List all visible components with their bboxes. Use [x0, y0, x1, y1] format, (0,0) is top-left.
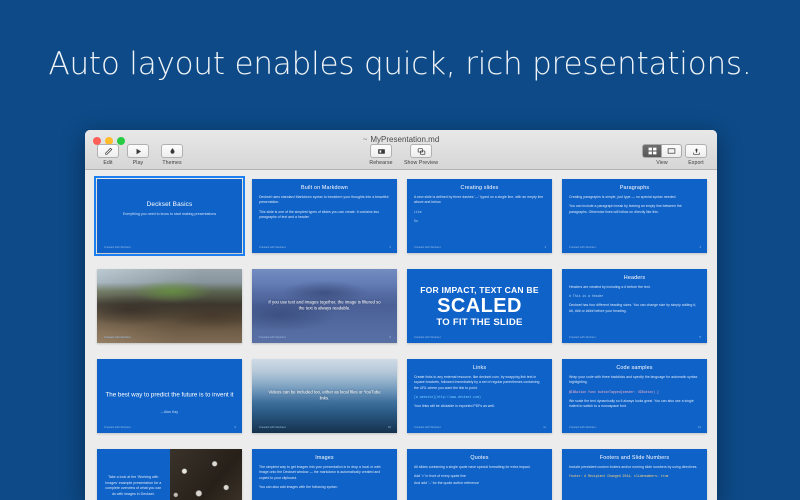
slide-footer: Created with Deckset	[414, 426, 441, 429]
scaled-line-3: TO FIT THE SLIDE	[436, 317, 522, 328]
page-headline: Auto layout enables quick, rich presenta…	[0, 46, 800, 82]
slide-paragraph: Deckset has four different heading sizes…	[569, 303, 700, 314]
toolbar-show-preview-label: Show Preview	[404, 160, 438, 166]
slide-cell[interactable]: Videos can be included too, either as lo…	[252, 359, 397, 433]
slide-cell[interactable]: FOR IMPACT, TEXT CAN BE SCALED TO FIT TH…	[407, 269, 552, 343]
slide-thumbnail-7[interactable]: FOR IMPACT, TEXT CAN BE SCALED TO FIT TH…	[407, 269, 552, 343]
slide-thumbnail-14[interactable]: Images The simplest way to get images in…	[252, 449, 397, 500]
slide-paragraph: Wrap your code with three backticks and …	[569, 375, 700, 386]
slide-cell[interactable]: Images The simplest way to get images in…	[252, 449, 397, 500]
slide-title: Deckset Basics	[104, 201, 235, 208]
toolbar-center-group: Rehearse Show Preview	[85, 144, 717, 166]
view-segmented-control[interactable]	[642, 144, 682, 158]
slide-cell[interactable]: Footers and Slide Numbers Include persis…	[562, 449, 707, 500]
slide-cell[interactable]: Deckset Basics Everything you need to kn…	[97, 179, 242, 253]
slide-quote-attribution: – Alan Kay	[97, 410, 242, 414]
deckset-app-window: ~MyPresentation.md Edit Play Themes	[85, 130, 717, 500]
window-titlebar: ~MyPresentation.md Edit Play Themes	[85, 130, 717, 170]
slide-thumbnail-15[interactable]: Quotes All slides containing a single qu…	[407, 449, 552, 500]
preview-icon	[410, 144, 432, 158]
slide-cell[interactable]: Code samples Wrap your code with three b…	[562, 359, 707, 433]
toolbar-export-button[interactable]: Export	[683, 144, 709, 166]
view-single-icon[interactable]	[662, 144, 682, 158]
slide-paragraph: Creating paragraphs is simple, just type…	[569, 195, 700, 200]
slide-thumbnail-2[interactable]: Built on Markdown Deckset uses standard …	[252, 179, 397, 253]
slide-paragraph: Headers are created by including a # bef…	[569, 285, 700, 290]
toolbar-view-switch[interactable]: View	[645, 144, 679, 166]
slide-overlay-text: Videos can be included too, either as lo…	[265, 390, 384, 403]
slide-number: 2	[390, 246, 391, 249]
slide-paragraph: You can include a paragraph break by lea…	[569, 204, 700, 215]
slide-footer: Created with Deckset	[104, 336, 131, 339]
slide-overlay-text: If you use text and images together, the…	[265, 300, 384, 313]
slide-cell[interactable]: If you use text and images together, the…	[252, 269, 397, 343]
slide-paragraph: Your links will be clickable in exported…	[414, 404, 545, 409]
slide-paragraph: And add '--' for the quote author refere…	[414, 481, 545, 486]
slide-thumbnail-9[interactable]: The best way to predict the future is to…	[97, 359, 242, 433]
slide-code: @IBAction func buttonTapped(sender: UIBu…	[569, 390, 700, 395]
toolbar-rehearse-label: Rehearse	[369, 160, 392, 166]
slide-paragraph: Take a look at the 'Working with Images'…	[103, 475, 164, 497]
slide-footer: Created with Deckset	[259, 336, 286, 339]
slide-number: 4	[700, 246, 701, 249]
slide-paragraph: We scale the text dynamically so it alwa…	[569, 399, 700, 410]
slide-cell[interactable]: Created with Deckset	[97, 269, 242, 343]
split-text-half: Take a look at the 'Working with Images'…	[97, 449, 170, 500]
view-grid-icon[interactable]	[642, 144, 662, 158]
slide-title: Paragraphs	[569, 185, 700, 191]
slide-code: [a website](http://www.deckset.com)	[414, 395, 545, 400]
slide-footer: Created with Deckset	[569, 246, 596, 249]
slide-title: Headers	[569, 275, 700, 281]
slide-paragraph: This slide is one of the simplest types …	[259, 210, 390, 221]
slide-footer: Created with Deckset	[104, 246, 131, 249]
flowers-photo	[170, 449, 243, 500]
slide-cell[interactable]: Built on Markdown Deckset uses standard …	[252, 179, 397, 253]
slide-number: 12	[698, 426, 701, 429]
toolbar-view-label: View	[656, 160, 668, 166]
scaled-line-1: FOR IMPACT, TEXT CAN BE	[420, 285, 539, 295]
slide-thumbnail-1[interactable]: Deckset Basics Everything you need to kn…	[97, 179, 242, 253]
slide-footer: Created with Deckset	[569, 426, 596, 429]
slide-number: 10	[388, 426, 391, 429]
slide-paragraph: # This is a header	[569, 294, 700, 299]
slide-footer: Created with Deckset	[414, 246, 441, 249]
slide-title: Quotes	[414, 455, 545, 461]
slide-cell[interactable]: Links Create links to any external resou…	[407, 359, 552, 433]
slide-paragraph: Create links to any external resource, l…	[414, 375, 545, 391]
slide-cell[interactable]: Quotes All slides containing a single qu…	[407, 449, 552, 500]
toolbar-show-preview-button[interactable]: Show Preview	[404, 144, 438, 166]
slide-footer: Created with Deckset	[569, 336, 596, 339]
slide-paragraph: Include persistent custom footers and/or…	[569, 465, 700, 470]
slide-number: 6	[390, 336, 391, 339]
slide-paragraph: Deckset uses standard Markdown syntax to…	[259, 195, 390, 206]
toolbar-export-label: Export	[688, 160, 704, 166]
slide-thumbnail-12[interactable]: Code samples Wrap your code with three b…	[562, 359, 707, 433]
slide-subtitle: Everything you need to know to start mak…	[104, 212, 235, 216]
slide-paragraph: Add '>' in front of every quote line	[414, 474, 545, 479]
slide-number: 8	[700, 336, 701, 339]
slide-thumbnail-16[interactable]: Footers and Slide Numbers Include persis…	[562, 449, 707, 500]
slide-paragraph: The simplest way to get images into your…	[259, 465, 390, 481]
slide-number: 11	[543, 426, 546, 429]
slide-footer: Created with Deckset	[104, 426, 131, 429]
slide-title: Built on Markdown	[259, 185, 390, 191]
slide-thumbnail-10[interactable]: Videos can be included too, either as lo…	[252, 359, 397, 433]
slide-paragraph: All slides containing a single quote hav…	[414, 465, 545, 470]
slide-title: Code samples	[569, 365, 700, 371]
slide-title: Footers and Slide Numbers	[569, 455, 700, 461]
mountain-photo	[97, 269, 242, 343]
slide-paragraph: Like	[414, 210, 545, 215]
toolbar-right-group: View Export	[645, 144, 709, 166]
document-title: ~MyPresentation.md	[85, 135, 717, 144]
slide-thumbnail-13[interactable]: Take a look at the 'Working with Images'…	[97, 449, 242, 500]
slide-cell[interactable]: The best way to predict the future is to…	[97, 359, 242, 433]
title-text: MyPresentation.md	[370, 135, 439, 144]
slide-paragraph: So	[414, 219, 545, 224]
rehearse-icon	[370, 144, 392, 158]
slide-footer: Created with Deckset	[259, 246, 286, 249]
slide-number: 9	[235, 426, 236, 429]
export-icon	[685, 144, 707, 158]
slide-thumbnail-8[interactable]: Headers Headers are created by including…	[562, 269, 707, 343]
slide-cell[interactable]: Paragraphs Creating paragraphs is simple…	[562, 179, 707, 253]
slide-paragraph: You can also add images with the followi…	[259, 485, 390, 490]
slide-grid[interactable]: Deckset Basics Everything you need to kn…	[85, 171, 717, 500]
slide-thumbnail-11[interactable]: Links Create links to any external resou…	[407, 359, 552, 433]
slide-code: footer: A Recipient Changed 2014, sliden…	[569, 474, 700, 479]
slide-quote: The best way to predict the future is to…	[105, 391, 234, 399]
slide-title: Creating slides	[414, 185, 545, 191]
slide-title: Links	[414, 365, 545, 371]
slide-thumbnail-6[interactable]: If you use text and images together, the…	[252, 269, 397, 343]
slide-title: Images	[259, 455, 390, 461]
slide-cell[interactable]: Take a look at the 'Working with Images'…	[97, 449, 242, 500]
toolbar-rehearse-button[interactable]: Rehearse	[364, 144, 398, 166]
slide-thumbnail-4[interactable]: Paragraphs Creating paragraphs is simple…	[562, 179, 707, 253]
slide-footer: Created with Deckset	[414, 336, 441, 339]
slide-thumbnail-5[interactable]: Created with Deckset	[97, 269, 242, 343]
slide-thumbnail-3[interactable]: Creating slides A new slide is defined b…	[407, 179, 552, 253]
slide-number: 3	[545, 246, 546, 249]
scaled-line-2: SCALED	[437, 296, 522, 316]
slide-footer: Created with Deckset	[259, 426, 286, 429]
title-prefix: ~	[363, 135, 368, 144]
slide-cell[interactable]: Headers Headers are created by including…	[562, 269, 707, 343]
slide-paragraph: A new slide is defined by three dashes '…	[414, 195, 545, 206]
slide-cell[interactable]: Creating slides A new slide is defined b…	[407, 179, 552, 253]
